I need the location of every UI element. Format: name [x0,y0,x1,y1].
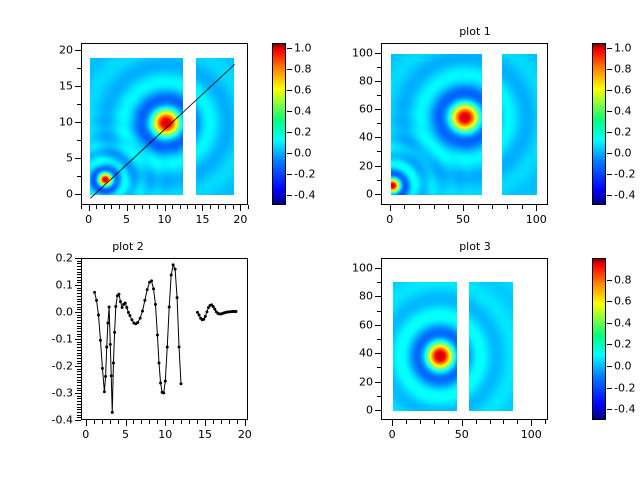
subplot-plot3-title: plot 3 [380,240,570,253]
series-marker [154,303,157,306]
major-tick-x [89,205,90,211]
minor-tick-x [81,205,82,209]
minor-tick-y [77,401,81,402]
series-marker [109,343,112,346]
minor-tick-y [77,309,81,310]
subplot-topleft: 0510152005101520 1.00.80.60.40.20.0-0.2-… [0,0,320,240]
minor-tick-y [77,296,81,297]
ytick-label: 0 [39,189,73,200]
minor-tick-y [77,396,81,397]
minor-tick-x [248,205,249,209]
colorbar-tick-label: -0.2 [614,168,635,179]
minor-tick-y [77,104,81,105]
ytick-label: 0.2 [39,253,73,264]
minor-tick-x [157,205,158,209]
axes-plot3[interactable] [381,258,548,420]
series-marker [204,315,207,318]
minor-tick-y [77,261,81,262]
minor-tick-x [434,205,435,209]
colorbar-tick [287,153,292,154]
minor-tick-x [210,205,211,209]
minor-tick-y [77,404,81,405]
major-tick-y [75,158,81,159]
series-marker [150,279,153,282]
major-tick-x [245,420,246,426]
series-marker [124,302,127,305]
minor-tick-y [377,151,381,152]
figure-canvas: 0510152005101520 1.00.80.60.40.20.0-0.2-… [0,0,640,480]
colorbar-tick-label: 0.0 [614,147,632,158]
series-marker [168,306,171,309]
minor-tick-x [419,205,420,209]
axes-plot1[interactable] [381,43,548,205]
major-tick-x [126,420,127,426]
major-tick-y [375,296,381,297]
minor-tick-y [77,277,81,278]
axes-plot2[interactable] [81,258,248,420]
major-tick-y [375,268,381,269]
xtick-label: 10 [158,214,172,225]
colorbar-tick [607,153,612,154]
series-marker [105,346,108,349]
ytick-label: -0.2 [39,361,73,372]
minor-tick-x [157,420,158,424]
major-tick-y [75,86,81,87]
minor-tick-y [77,342,81,343]
minor-tick-y [77,304,81,305]
minor-tick-y [77,326,81,327]
ytick-label: 15 [39,81,73,92]
minor-tick-y [377,67,381,68]
xtick-label: 100 [526,214,547,225]
xtick-label: 15 [198,429,212,440]
major-tick-y [375,137,381,138]
heatmap-block [196,58,234,195]
major-tick-y [375,166,381,167]
series-marker [119,300,122,303]
minor-tick-x [420,420,421,424]
colorbar-tick [607,344,612,345]
subplot-bottomright: plot 3 050100020406080100 0.80.60.40.20.… [320,240,640,480]
minor-tick-y [77,288,81,289]
minor-tick-y [77,371,81,372]
ytick-label: 10 [39,117,73,128]
minor-tick-y [377,282,381,283]
colorbar-tick-label: 0.0 [614,361,632,372]
series-marker [117,293,120,296]
minor-tick-x [141,420,142,424]
minor-tick-x [517,420,518,424]
series-marker [93,291,96,294]
major-tick-x [240,205,241,211]
colorbar-plot3 [592,258,606,420]
major-tick-y [75,122,81,123]
xtick-label: 0 [82,429,89,440]
colorbar-topleft [272,43,286,205]
minor-tick-y [77,361,81,362]
minor-tick-x [142,205,143,209]
minor-tick-x [448,205,449,209]
minor-tick-x [492,205,493,209]
series-marker [156,334,159,337]
major-tick-x [202,205,203,211]
ytick-label: 40 [339,348,373,359]
major-tick-x [392,420,393,426]
minor-tick-y [77,293,81,294]
series-marker [139,317,142,320]
series-marker [130,318,133,321]
series-marker [125,306,128,309]
series-marker [146,288,149,291]
colorbar-tick [607,90,612,91]
xtick-label: 50 [456,214,470,225]
colorbar-tick-label: -0.4 [294,189,315,200]
series-marker [205,310,208,313]
colorbar-tick [607,366,612,367]
colorbar-tick [607,174,612,175]
xtick-label: 15 [195,214,209,225]
major-tick-y [75,50,81,51]
ytick-label: -0.3 [39,388,73,399]
major-tick-y [75,366,81,367]
series-marker [172,263,175,266]
series-marker [159,382,162,385]
colorbar-tick [607,111,612,112]
minor-tick-x [213,420,214,424]
heatmap-block [469,282,513,411]
series-marker [198,314,201,317]
minor-tick-x [102,420,103,424]
ytick-label: 20 [339,376,373,387]
ytick-label: 80 [339,291,373,302]
minor-tick-y [77,380,81,381]
series-marker [112,362,115,365]
colorbar-tick [287,48,292,49]
minor-tick-x [229,420,230,424]
colorbar-tick [287,69,292,70]
major-tick-y [75,194,81,195]
colorbar-tick-label: 0.4 [614,105,632,116]
series-marker [143,299,146,302]
ytick-label: -0.1 [39,334,73,345]
colorbar-tick-label: 1.0 [294,43,312,54]
colorbar-tick-label: -0.4 [614,404,635,415]
major-tick-x [165,420,166,426]
minor-tick-y [77,363,81,364]
axes-topleft[interactable] [81,43,248,205]
ytick-label: 80 [339,76,373,87]
minor-tick-x [111,205,112,209]
major-tick-y [75,393,81,394]
major-tick-y [75,339,81,340]
minor-tick-y [377,95,381,96]
minor-tick-x [221,420,222,424]
xtick-label: 0 [85,214,92,225]
colorbar-tick-label: 0.2 [614,126,632,137]
colorbar-tick [607,69,612,70]
colorbar-tick [607,323,612,324]
major-tick-y [375,81,381,82]
major-tick-y [375,382,381,383]
minor-tick-x [503,420,504,424]
colorbar-tick-label: 0.0 [294,147,312,158]
minor-tick-x [218,205,219,209]
subplot-bottomleft: plot 2 051015200.20.10.0-0.1-0.2-0.3-0.4 [0,240,320,480]
xtick-label: 20 [233,214,247,225]
minor-tick-y [77,407,81,408]
xtick-label: 5 [122,429,129,440]
ytick-label: 0 [339,188,373,199]
major-tick-x [390,205,391,211]
series-marker [136,321,139,324]
major-tick-y [375,410,381,411]
minor-tick-y [77,336,81,337]
subplot-topright: plot 1 050100020406080100 1.00.80.60.40.… [320,0,640,240]
minor-tick-x [448,420,449,424]
minor-tick-x [110,420,111,424]
series-marker [113,331,116,334]
minor-tick-y [77,409,81,410]
series-marker [176,296,179,299]
minor-tick-x [172,205,173,209]
colorbar-tick-label: 0.2 [614,339,632,350]
xtick-label: 0 [386,214,393,225]
series-marker [178,346,181,349]
major-tick-y [75,285,81,286]
major-tick-y [75,258,81,259]
colorbar-tick-label: 0.4 [294,105,312,116]
xtick-label: 0 [389,429,396,440]
minor-tick-x [522,205,523,209]
ytick-label: 5 [39,153,73,164]
heatmap-block [90,58,183,195]
minor-tick-x [104,205,105,209]
series-marker [128,314,131,317]
major-tick-y [375,53,381,54]
series-marker [180,382,183,385]
major-tick-y [375,109,381,110]
colorbar-tick-label: 0.6 [294,85,312,96]
xtick-label: 20 [238,429,252,440]
major-tick-x [536,205,537,211]
colorbar-tick-label: 1.0 [614,43,632,54]
subplot-plot1-title: plot 1 [380,25,570,38]
minor-tick-x [181,420,182,424]
minor-tick-y [77,263,81,264]
series-marker [101,367,104,370]
minor-tick-y [77,382,81,383]
major-tick-x [531,420,532,426]
minor-tick-x [94,420,95,424]
colorbar-tick [607,195,612,196]
minor-tick-x [149,205,150,209]
minor-tick-x [197,420,198,424]
minor-tick-x [118,420,119,424]
minor-tick-y [77,398,81,399]
xtick-label: 5 [123,214,130,225]
minor-tick-y [77,358,81,359]
minor-tick-x [233,205,234,209]
series-marker [152,287,155,290]
minor-tick-x [189,420,190,424]
ytick-label: 0.0 [39,307,73,318]
minor-tick-y [77,266,81,267]
minor-tick-y [77,317,81,318]
minor-tick-x [96,205,97,209]
ytick-label: 60 [339,104,373,115]
major-tick-y [375,353,381,354]
minor-tick-y [77,176,81,177]
series-marker [110,374,113,377]
minor-tick-x [476,420,477,424]
series-marker [108,306,111,309]
colorbar-tick [607,388,612,389]
minor-tick-x [406,420,407,424]
series-marker [99,339,102,342]
colorbar-tick [607,301,612,302]
series-marker [121,306,124,309]
minor-tick-y [77,388,81,389]
minor-tick-y [377,123,381,124]
colorbar-tick-label: 0.2 [294,126,312,137]
major-tick-y [375,325,381,326]
series-marker [164,380,167,383]
major-tick-x [127,205,128,211]
heatmap-block [393,282,457,411]
minor-tick-y [77,412,81,413]
colorbar-tick [607,409,612,410]
minor-tick-y [77,68,81,69]
series-marker [235,310,238,313]
major-tick-y [75,420,81,421]
minor-tick-x [187,205,188,209]
minor-tick-y [77,320,81,321]
minor-tick-y [377,367,381,368]
minor-tick-x [133,420,134,424]
minor-tick-y [77,274,81,275]
ytick-label: 100 [339,262,373,273]
colorbar-tick-label: -0.2 [294,168,315,179]
minor-tick-y [77,334,81,335]
minor-tick-y [377,396,381,397]
series-marker [127,311,130,314]
series-marker [162,391,165,394]
series-marker [212,305,215,308]
heatmap-block [391,54,482,195]
colorbar-tick [607,280,612,281]
ytick-label: 40 [339,132,373,143]
major-tick-y [75,312,81,313]
series-marker [158,362,161,365]
subplot-plot2-title: plot 2 [0,240,256,253]
xtick-label: 10 [158,429,172,440]
colorbar-tick [607,48,612,49]
minor-tick-y [77,323,81,324]
minor-tick-y [77,315,81,316]
series-marker [196,311,199,314]
colorbar-tick [287,111,292,112]
minor-tick-y [77,301,81,302]
minor-tick-y [77,331,81,332]
minor-tick-y [77,417,81,418]
colorbar-tick-label: 0.6 [614,85,632,96]
colorbar-tick [607,132,612,133]
minor-tick-y [377,311,381,312]
ytick-label: 0.1 [39,280,73,291]
series-marker [141,310,144,313]
minor-tick-x [490,420,491,424]
minor-tick-y [77,328,81,329]
series-marker [114,305,117,308]
minor-tick-x [180,205,181,209]
series-marker [97,314,100,317]
ytick-label: 0 [339,405,373,416]
colorbar-tick [287,174,292,175]
series-marker [174,268,177,271]
minor-tick-x [404,205,405,209]
minor-tick-x [478,205,479,209]
ytick-label: -0.4 [39,415,73,426]
minor-tick-y [77,272,81,273]
minor-tick-y [77,355,81,356]
colorbar-tick-label: -0.2 [614,382,635,393]
colorbar-tick [287,132,292,133]
minor-tick-y [77,290,81,291]
heatmap-block [502,54,537,195]
series-path [95,265,181,412]
major-tick-x [462,420,463,426]
minor-tick-y [77,390,81,391]
minor-tick-x [134,205,135,209]
minor-tick-y [77,140,81,141]
ytick-label: 60 [339,319,373,330]
minor-tick-y [377,339,381,340]
minor-tick-y [77,377,81,378]
minor-tick-x [237,420,238,424]
minor-tick-y [77,282,81,283]
colorbar-tick-label: 0.8 [614,274,632,285]
minor-tick-x [149,420,150,424]
major-tick-x [165,205,166,211]
series-marker [213,308,216,311]
minor-tick-y [77,415,81,416]
series-marker [106,322,109,325]
minor-tick-x [545,420,546,424]
minor-tick-x [225,205,226,209]
xtick-label: 100 [521,429,542,440]
ytick-label: 20 [39,45,73,56]
colorbar-tick-label: 0.6 [614,296,632,307]
minor-tick-y [77,347,81,348]
colorbar-tick [287,90,292,91]
minor-tick-y [77,385,81,386]
major-tick-x [205,420,206,426]
major-tick-x [86,420,87,426]
minor-tick-y [77,369,81,370]
minor-tick-y [77,350,81,351]
line-series-plot2 [82,259,247,419]
colorbar-plot1 [592,43,606,205]
series-marker [111,411,114,414]
colorbar-tick-label: 0.8 [294,64,312,75]
minor-tick-y [77,344,81,345]
minor-tick-y [377,180,381,181]
series-marker [170,274,173,277]
minor-tick-y [77,353,81,354]
ytick-label: 100 [339,47,373,58]
minor-tick-x [434,420,435,424]
series-marker [103,390,106,393]
